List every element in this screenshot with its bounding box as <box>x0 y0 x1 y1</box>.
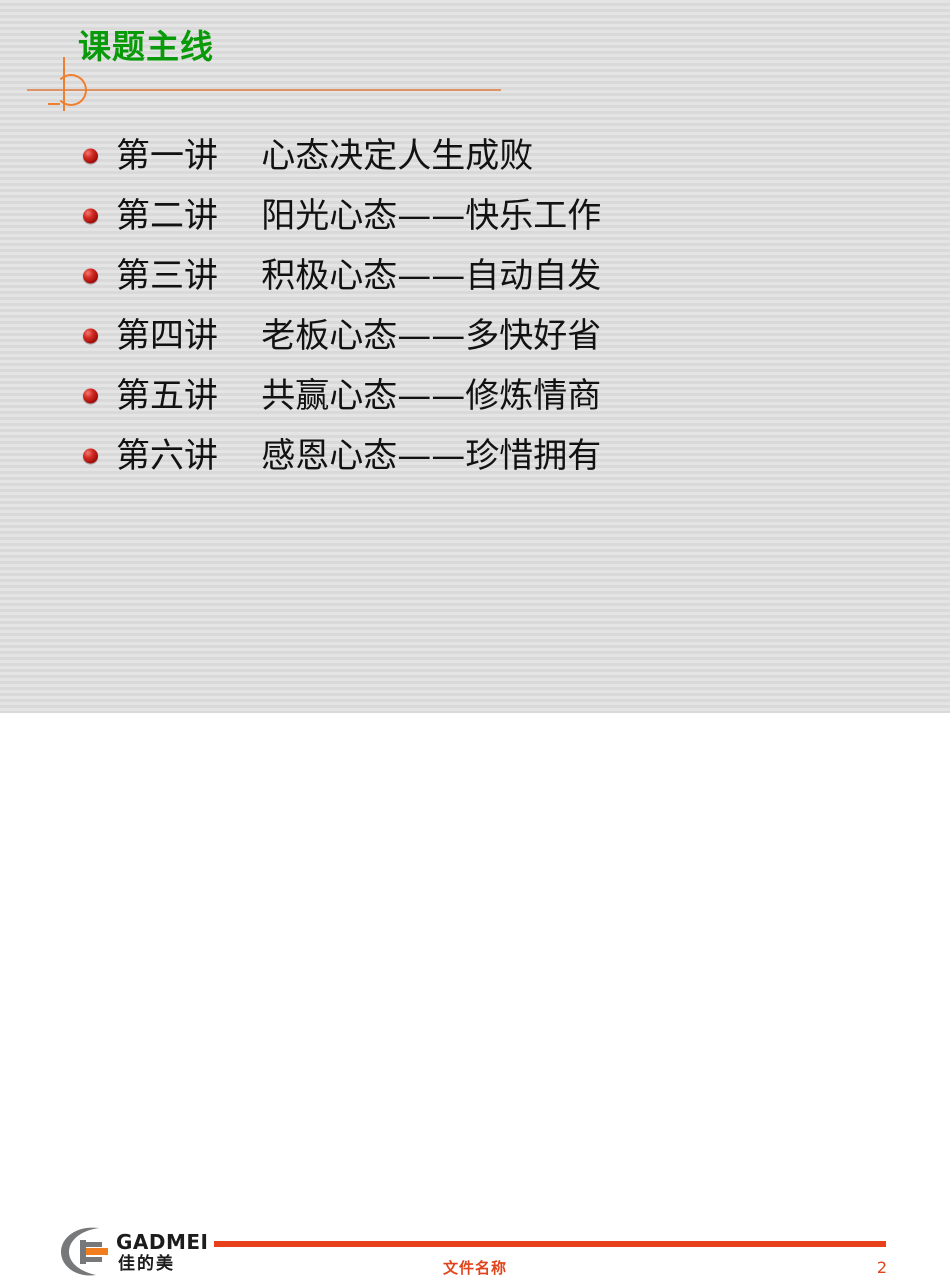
title-accent-half-circle-icon <box>55 74 87 106</box>
red-sphere-bullet-icon <box>83 389 98 404</box>
list-item-label: 第二讲 阳光心态——快乐工作 <box>116 194 601 238</box>
slide-header: 课题主线 <box>0 0 950 115</box>
slide-canvas: 课题主线 第一讲 心态决定人生成败 第二讲 阳光心态——快乐工作 第三讲 积极心… <box>0 0 950 713</box>
list-item-label: 第一讲 心态决定人生成败 <box>116 134 533 178</box>
list-item[interactable]: 第二讲 阳光心态——快乐工作 <box>80 186 880 246</box>
list-item[interactable]: 第五讲 共赢心态——修炼情商 <box>80 366 880 426</box>
red-sphere-bullet-icon <box>83 269 98 284</box>
red-sphere-bullet-icon <box>83 149 98 164</box>
page-title: 课题主线 <box>78 26 214 68</box>
list-item[interactable]: 第四讲 老板心态——多快好省 <box>80 306 880 366</box>
title-accent-arc-tail <box>48 103 60 105</box>
list-item-label: 第五讲 共赢心态——修炼情商 <box>116 374 601 418</box>
logo-wordmark: GADMEI <box>116 1231 209 1253</box>
red-sphere-bullet-icon <box>83 329 98 344</box>
logo-subtext: 佳的美 <box>118 1254 175 1274</box>
list-item[interactable]: 第三讲 积极心态——自动自发 <box>80 246 880 306</box>
footer-divider-rule <box>214 1241 886 1247</box>
list-item-label: 第四讲 老板心态——多快好省 <box>116 314 601 358</box>
red-sphere-bullet-icon <box>83 449 98 464</box>
list-item-label: 第三讲 积极心态——自动自发 <box>116 254 601 298</box>
red-sphere-bullet-icon <box>83 209 98 224</box>
title-divider-rule <box>27 89 501 91</box>
list-item[interactable]: 第一讲 心态决定人生成败 <box>80 126 880 186</box>
agenda-list: 第一讲 心态决定人生成败 第二讲 阳光心态——快乐工作 第三讲 积极心态——自动… <box>80 126 880 486</box>
slide-footer: 文件名称 2 GADMEI 佳的美 <box>0 605 950 713</box>
page-number: 2 <box>870 1258 894 1277</box>
list-item-label: 第六讲 感恩心态——珍惜拥有 <box>116 434 601 478</box>
list-item[interactable]: 第六讲 感恩心态——珍惜拥有 <box>80 426 880 486</box>
gadmei-c-swoosh-icon <box>58 1223 118 1279</box>
company-logo: GADMEI 佳的美 <box>58 1223 218 1285</box>
